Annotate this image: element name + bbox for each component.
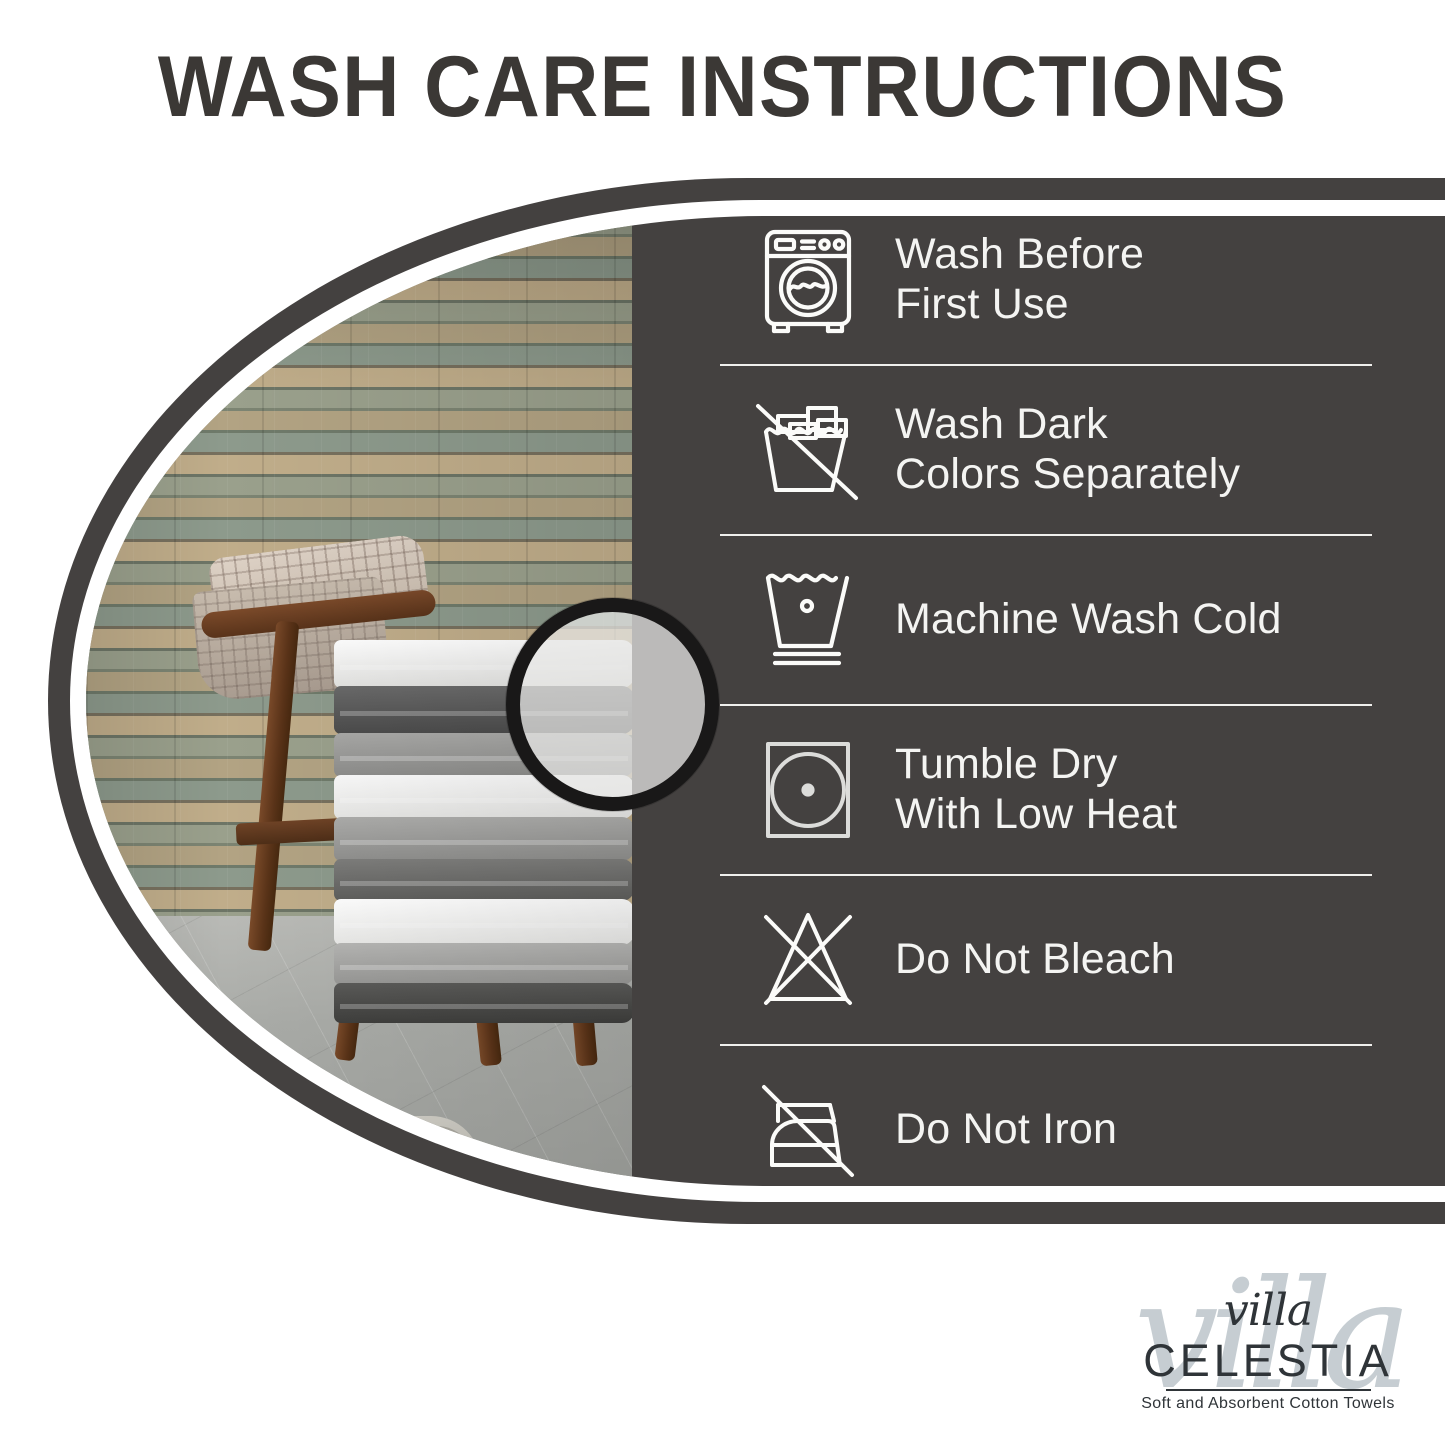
wash-dark-separately-icon	[720, 398, 895, 502]
logo-script-villa: villa	[1118, 1285, 1418, 1336]
care-row-label: Wash Before First Use	[895, 230, 1144, 330]
do-not-bleach-icon	[720, 907, 895, 1013]
page-title-wrap: WASH CARE INSTRUCTIONS	[0, 42, 1445, 132]
care-row-wash-before-first-use: Wash Before First Use	[720, 196, 1372, 364]
care-row-label: Do Not Bleach	[895, 935, 1175, 985]
logo-tagline: Soft and Absorbent Cotton Towels	[1118, 1395, 1418, 1413]
do-not-iron-icon	[720, 1079, 895, 1181]
logo-underline	[1166, 1389, 1371, 1391]
care-row-do-not-bleach: Do Not Bleach	[720, 876, 1372, 1044]
care-row-label: Do Not Iron	[895, 1105, 1117, 1155]
logo-brand-name: CELESTIA	[1118, 1335, 1418, 1387]
folded-towel	[334, 817, 632, 861]
folded-towel	[334, 983, 632, 1023]
washing-machine-icon	[720, 226, 895, 334]
magnifier-badge	[506, 598, 719, 811]
care-row-label: Tumble Dry With Low Heat	[895, 740, 1177, 840]
care-row-label: Machine Wash Cold	[895, 595, 1282, 645]
care-row-do-not-iron: Do Not Iron	[720, 1046, 1372, 1214]
care-row-wash-dark-colors-separately: Wash Dark Colors Separately	[720, 366, 1372, 534]
folded-towel	[334, 899, 632, 945]
folded-towel	[334, 943, 632, 985]
folded-towel	[334, 859, 632, 901]
tumble-dry-low-icon	[720, 738, 895, 842]
page-title: WASH CARE INSTRUCTIONS	[58, 42, 1387, 132]
care-row-machine-wash-cold: Machine Wash Cold	[720, 536, 1372, 704]
care-row-label: Wash Dark Colors Separately	[895, 400, 1240, 500]
brand-logo: villa villa CELESTIA Soft and Absorbent …	[1118, 1243, 1418, 1428]
care-row-tumble-dry-low-heat: Tumble Dry With Low Heat	[720, 706, 1372, 874]
care-instruction-list: Wash Before First Use Wash Dark Colors S…	[720, 196, 1372, 1206]
machine-wash-cold-icon	[720, 568, 895, 672]
